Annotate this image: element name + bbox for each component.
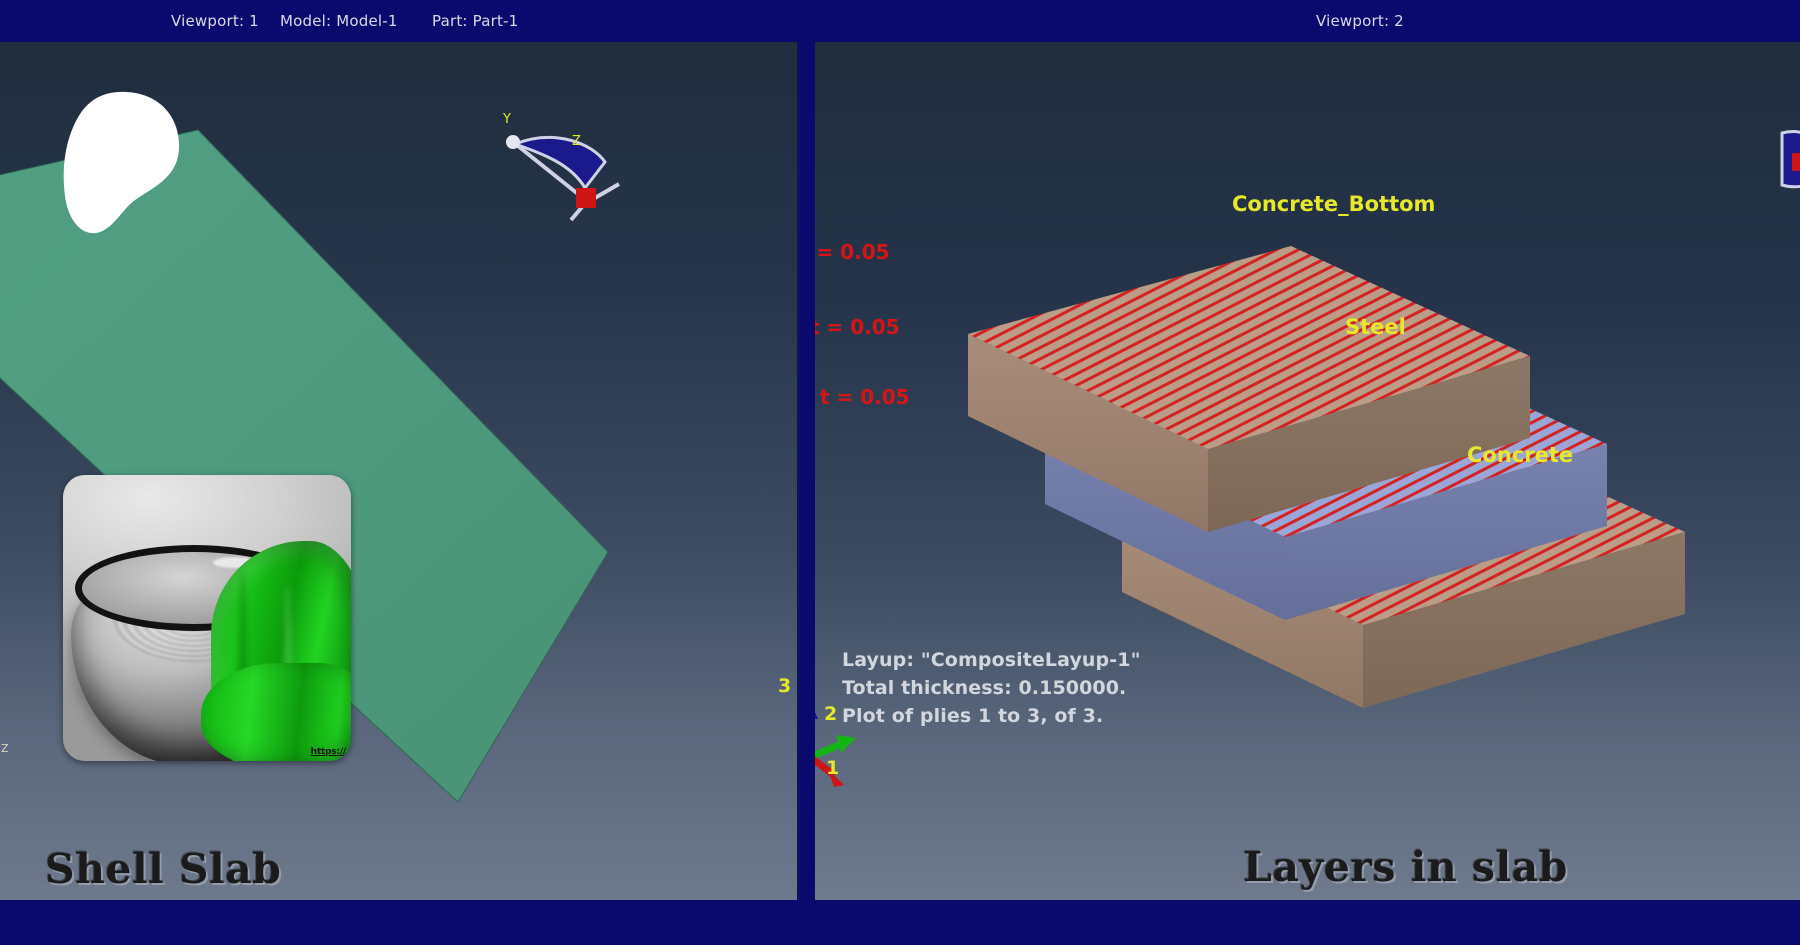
- title-bar: Viewport: 1 Model: Model-1 Part: Part-1 …: [0, 0, 1800, 42]
- viewport1-label: Viewport: 1: [171, 12, 259, 30]
- view-rotation-widget[interactable]: [493, 110, 623, 230]
- layup-name: Layup: "CompositeLayup-1": [842, 646, 1141, 674]
- thickness-label-3: t = 0.05: [820, 385, 910, 409]
- ply-label-concrete-bottom: Concrete_Bottom: [1232, 192, 1435, 216]
- part-label: Part: Part-1: [432, 12, 518, 30]
- viewport2-label: Viewport: 2: [1316, 12, 1404, 30]
- corner-rotation-widget[interactable]: [1778, 125, 1800, 195]
- viewport-2-canvas[interactable]: Layup: "CompositeLayup-1" Total thicknes…: [815, 42, 1800, 900]
- inset-photo: https://: [63, 475, 351, 761]
- thickness-label-2: t = 0.05: [810, 315, 900, 339]
- left-viewport-caption: Shell Slab: [45, 845, 281, 893]
- ply-label-concrete-top: Concrete: [1467, 443, 1573, 467]
- bottom-bar: [0, 900, 1800, 945]
- rotation-axis-z-label: Z: [572, 134, 581, 149]
- axis-triad: [815, 685, 868, 795]
- viewport-divider: [800, 42, 815, 900]
- layup-info-block: Layup: "CompositeLayup-1" Total thicknes…: [842, 646, 1141, 730]
- abaqus-viewport-window: Viewport: 1 Model: Model-1 Part: Part-1 …: [0, 0, 1800, 945]
- triad-axis-1-label: 1: [826, 757, 839, 779]
- rotation-axis-y-label: Y: [503, 112, 511, 127]
- triad-axis-3-label: 3: [778, 675, 791, 697]
- model-label: Model: Model-1: [280, 12, 398, 30]
- layup-plot-of-plies: Plot of plies 1 to 3, of 3.: [842, 702, 1141, 730]
- viewport-1-canvas[interactable]: https:// Y Z Z: [0, 42, 800, 900]
- edge-axis-label: Z: [1, 742, 9, 755]
- right-viewport-caption: Layers in slab: [1243, 843, 1568, 891]
- ply-label-steel: Steel: [1345, 315, 1406, 339]
- layup-total-thickness: Total thickness: 0.150000.: [842, 674, 1141, 702]
- white-blob-annotation: [60, 90, 190, 240]
- triad-axis-2-label: 2: [824, 703, 837, 725]
- photo-watermark: https://: [311, 747, 346, 757]
